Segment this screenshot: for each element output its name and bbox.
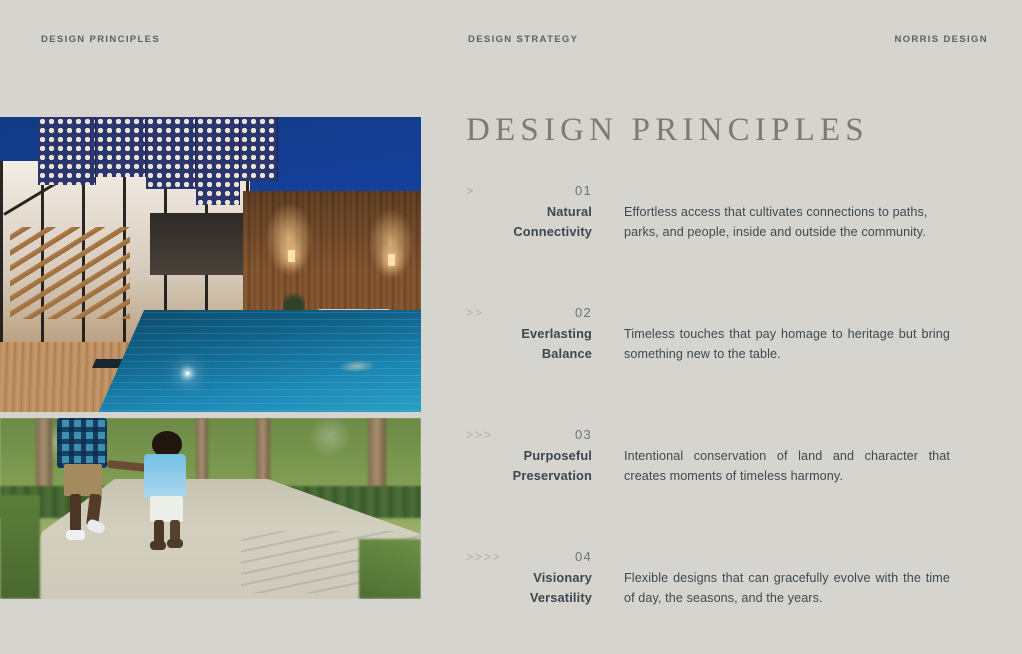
principle-number: 02: [466, 305, 592, 320]
screen-panel-3: [146, 117, 196, 189]
screen-panel-4: [196, 117, 240, 205]
principle-label-line1: Visionary: [533, 570, 592, 585]
pool-light-sparkle: [186, 372, 189, 375]
child-shoe-right: [167, 539, 183, 548]
wall-light-2: [388, 254, 395, 266]
screen-panel-1: [38, 117, 96, 185]
principles-list: > 01 Natural Connectivity Effortless acc…: [466, 180, 966, 654]
principle-label: Purposeful Preservation: [466, 446, 592, 486]
page-title: DESIGN PRINCIPLES: [466, 112, 869, 149]
header-left-label: DESIGN PRINCIPLES: [41, 34, 160, 45]
child-shorts: [150, 496, 183, 522]
slide-header: DESIGN PRINCIPLES DESIGN STRATEGY NORRIS…: [0, 0, 1022, 80]
principle-item: >> 02 Everlasting Balance Timeless touch…: [466, 302, 966, 424]
adult-shoe-left: [66, 530, 85, 540]
header-center-label: DESIGN STRATEGY: [468, 34, 578, 45]
principle-item: >>>> 04 Visionary Versatility Flexible d…: [466, 546, 966, 654]
principle-description: Timeless touches that pay homage to heri…: [624, 324, 950, 364]
principle-label-line2: Balance: [542, 346, 592, 361]
screen-panel-5: [240, 117, 278, 181]
principle-label-line1: Purposeful: [524, 448, 592, 463]
grass-left: [0, 495, 40, 599]
adult-plaid-shirt: [57, 418, 107, 468]
child-shoe-left: [150, 541, 166, 550]
slide-root: DESIGN PRINCIPLES DESIGN STRATEGY NORRIS…: [0, 0, 1022, 654]
principle-label: Natural Connectivity: [466, 202, 592, 242]
child-shirt: [144, 454, 186, 498]
interior-dark-wall: [150, 213, 246, 275]
adult-shorts: [64, 464, 102, 496]
adult-leg-left: [70, 494, 81, 532]
principle-item: > 01 Natural Connectivity Effortless acc…: [466, 180, 966, 302]
principle-number: 04: [466, 549, 592, 564]
principle-label-line2: Connectivity: [513, 224, 592, 239]
interior-staircase: [10, 227, 130, 319]
grass-right: [359, 539, 421, 599]
photo-modern-home-pool: [0, 117, 421, 412]
principle-label-line2: Preservation: [513, 468, 592, 483]
header-right-label: NORRIS DESIGN: [894, 34, 988, 45]
photo-park-walk: [0, 418, 421, 599]
principle-label-line2: Versatility: [530, 590, 592, 605]
principle-description: Intentional conservation of land and cha…: [624, 446, 950, 486]
perforated-screen-group: [0, 117, 260, 187]
media-column: [0, 117, 421, 599]
principle-label: Visionary Versatility: [466, 568, 592, 608]
principle-label-line1: Everlasting: [521, 326, 592, 341]
principle-number: 01: [466, 183, 592, 198]
principle-label: Everlasting Balance: [466, 324, 592, 364]
principle-description: Effortless access that cultivates connec…: [624, 202, 950, 242]
screen-panel-2: [96, 117, 146, 177]
principle-label-line1: Natural: [547, 204, 592, 219]
principle-description: Flexible designs that can gracefully evo…: [624, 568, 950, 608]
wall-light-1: [288, 250, 295, 262]
principle-number: 03: [466, 427, 592, 442]
swimming-pool: [96, 310, 421, 412]
principle-item: >>> 03 Purposeful Preservation Intention…: [466, 424, 966, 546]
